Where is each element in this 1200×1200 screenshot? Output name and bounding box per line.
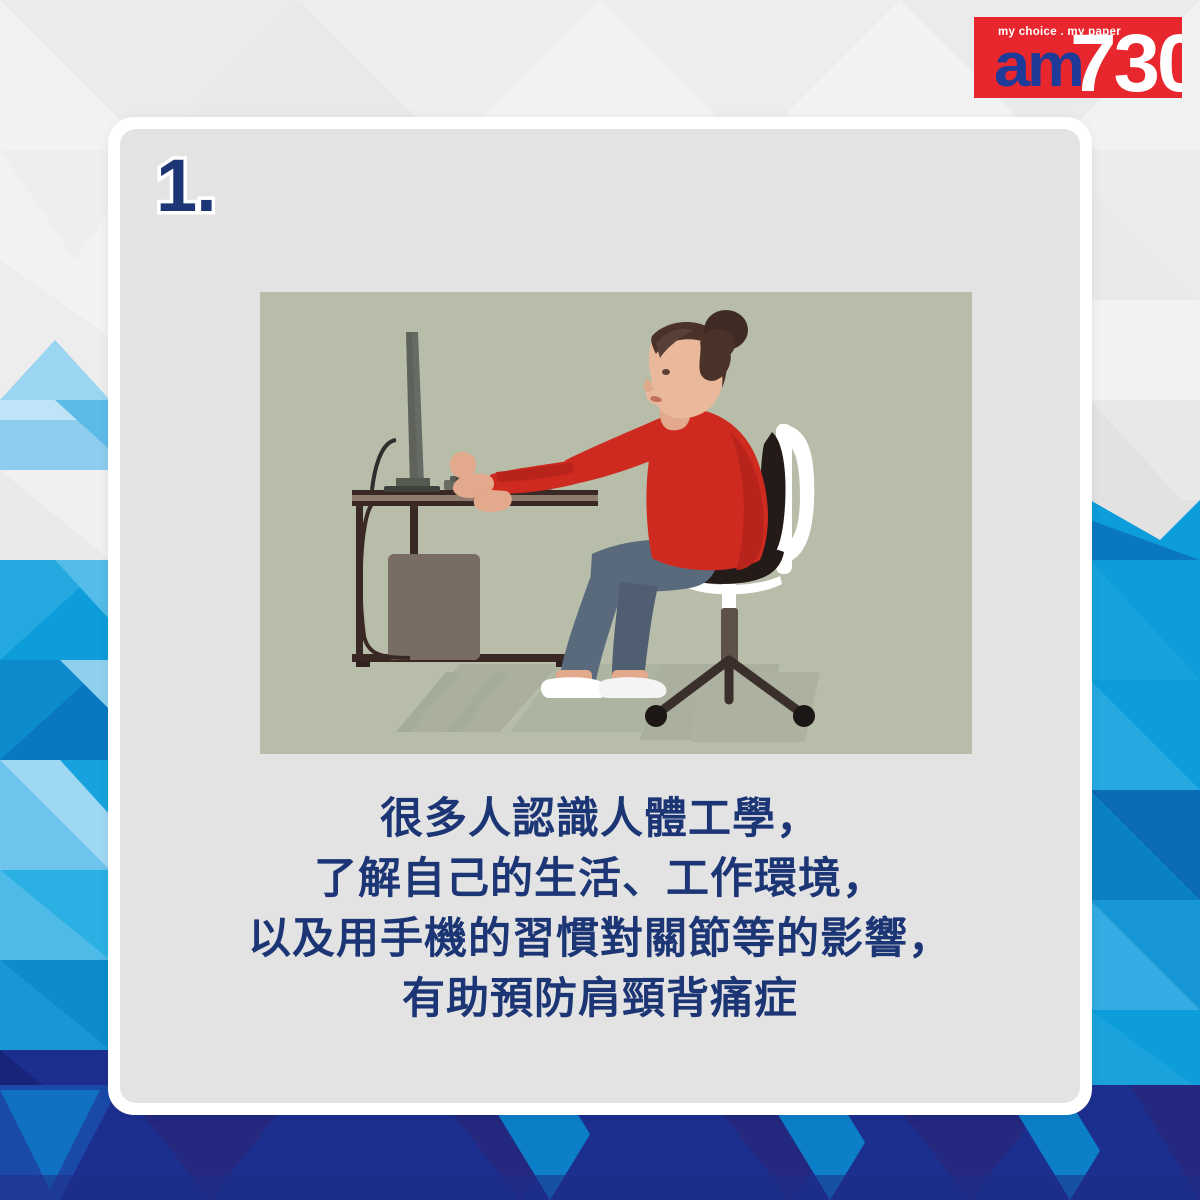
- illustration-svg: [260, 292, 972, 754]
- caption-line-1: 很多人認識人體工學，: [120, 789, 1080, 849]
- step-number: 1.: [156, 149, 216, 223]
- logo-wordmark-730: 730: [1070, 23, 1182, 98]
- caption-line-3: 以及用手機的習慣對關節等的影響，: [120, 909, 1080, 969]
- computer-tower: [388, 554, 480, 660]
- content-card: 1.: [108, 117, 1092, 1115]
- logo-wordmark-am: am: [994, 35, 1082, 97]
- card-surface: 1.: [120, 129, 1080, 1103]
- caption-line-4: 有助預防肩頸背痛症: [120, 969, 1080, 1029]
- caption-block: 很多人認識人體工學， 了解自己的生活、工作環境， 以及用手機的習慣對關節等的影響…: [120, 789, 1080, 1029]
- caption-line-2: 了解自己的生活、工作環境，: [120, 849, 1080, 909]
- am730-logo[interactable]: my choice . my paper am 730: [974, 17, 1182, 98]
- poster-canvas: my choice . my paper am 730 1.: [0, 0, 1200, 1200]
- illustration-image: [260, 292, 972, 754]
